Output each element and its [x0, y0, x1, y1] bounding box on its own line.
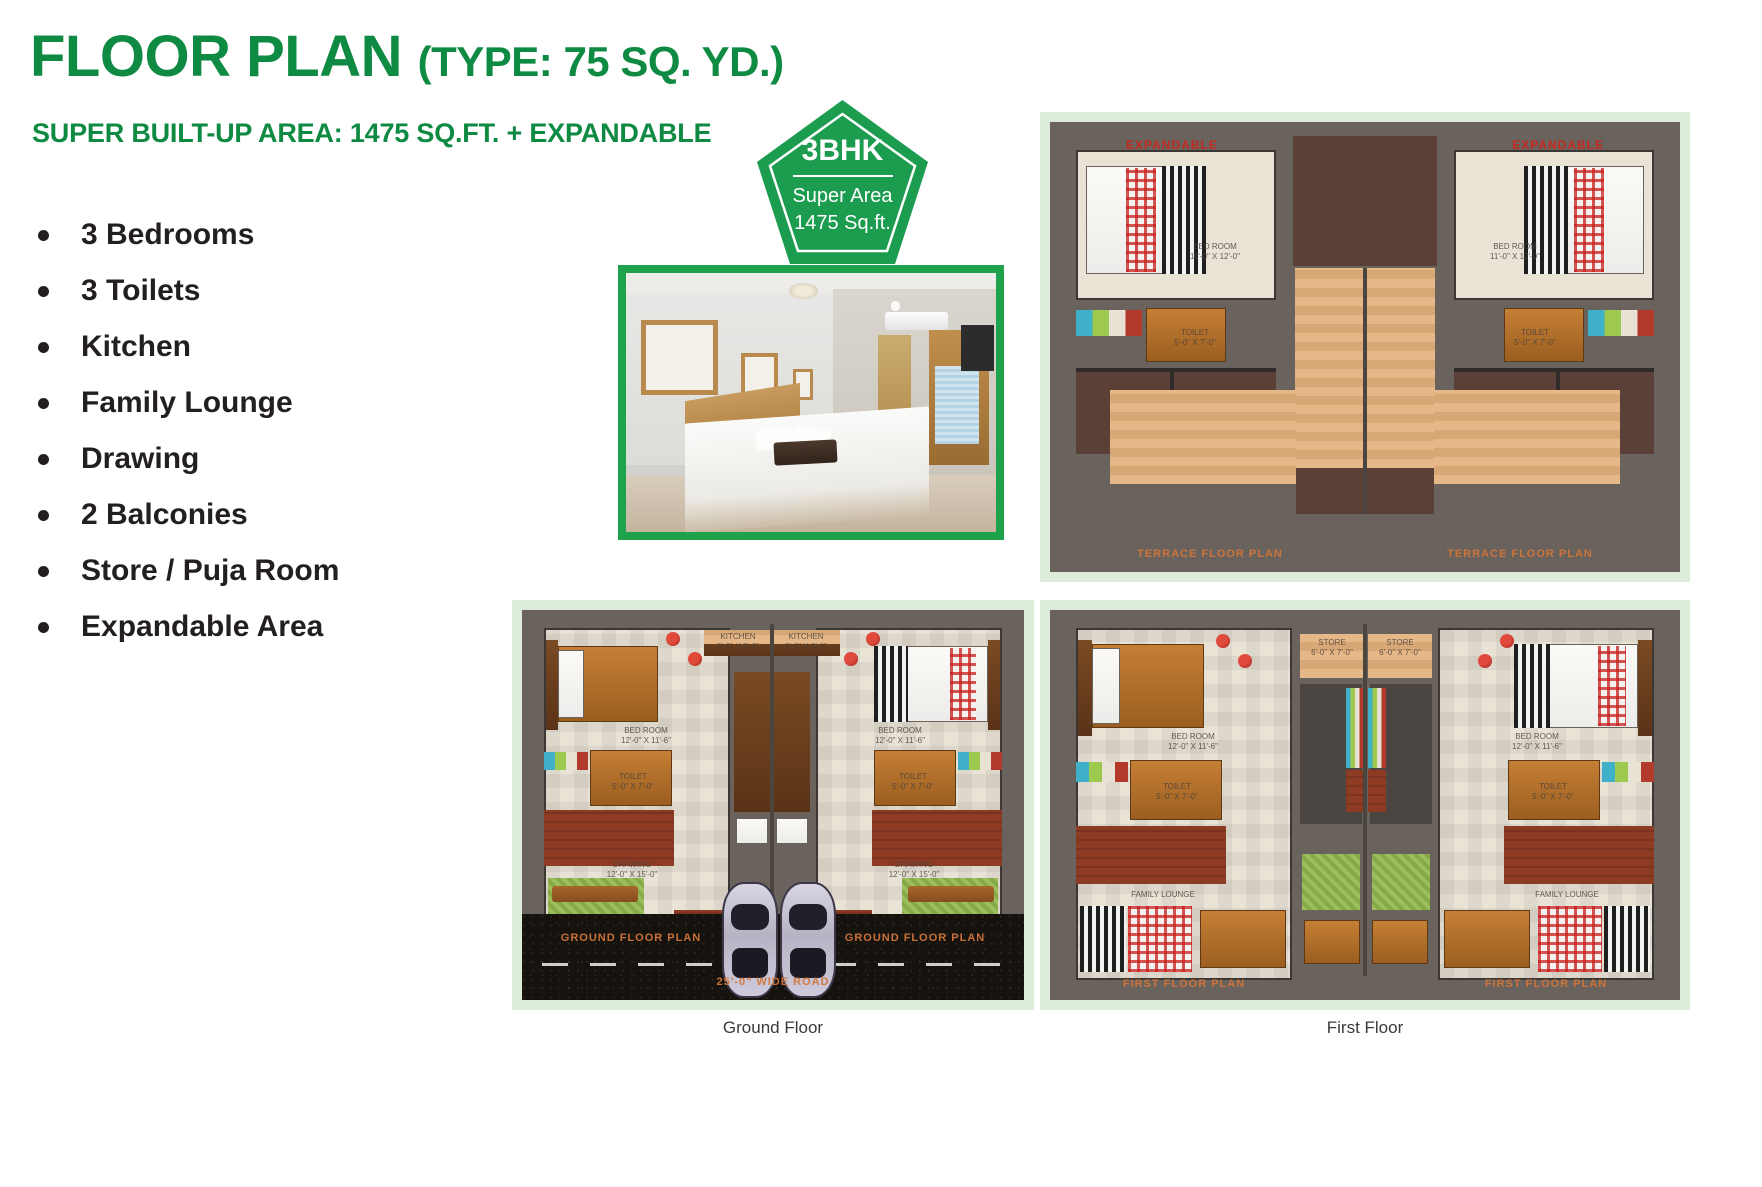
bullet-icon — [38, 454, 49, 465]
wardrobe-right — [1588, 310, 1654, 336]
terrace-tiles-far-left — [1110, 390, 1296, 484]
features-list: 3 Bedrooms 3 Toilets Kitchen Family Loun… — [28, 216, 498, 664]
landing-right — [776, 818, 808, 844]
bed — [685, 407, 929, 532]
center-divider — [1363, 624, 1367, 976]
bed-stripe-right-lower — [1604, 906, 1650, 972]
room-tag-lounge-left: FAMILY LOUNGE — [1108, 890, 1218, 900]
room-tag-bedroom-left: BED ROOM12'-0" X 11'-6" — [1146, 732, 1240, 752]
terrace-tiles-right — [1367, 268, 1435, 468]
list-item: Store / Puja Room — [28, 552, 498, 590]
first-floor-plan-panel: BED ROOM12'-0" X 11'-6" TOILET5'-0" X 7'… — [1040, 600, 1690, 1010]
title-type: (TYPE: 75 SQ. YD.) — [418, 38, 784, 85]
plant-icon — [1478, 654, 1492, 668]
bhk-badge: 3BHK Super Area 1475 Sq.ft. — [755, 98, 930, 273]
drawing-wall-left — [544, 810, 674, 866]
bedroom-render — [626, 273, 996, 532]
furniture-right-lower — [1444, 910, 1530, 968]
room-tag-toilet-right: TOILET5'-0" X 7'-0" — [1518, 782, 1588, 802]
list-item: Expandable Area — [28, 608, 498, 646]
room-tag-drawing-left: DRAWING12'-0" X 15'-0" — [582, 860, 682, 880]
sofa-left — [552, 886, 638, 902]
terrace-tiles-far-right — [1434, 390, 1620, 484]
page-subtitle: SUPER BUILT-UP AREA: 1475 SQ.FT. + EXPAN… — [32, 118, 711, 149]
first-plan-label-left: FIRST FLOOR PLAN — [1076, 978, 1292, 990]
stair-block-right — [774, 672, 810, 812]
wardrobe-right — [958, 752, 1002, 770]
bed-cover-right — [950, 648, 976, 720]
wardrobe-center-left — [1346, 688, 1364, 768]
ground-floor-caption: Ground Floor — [512, 1018, 1034, 1038]
lounge-wall-right — [1504, 826, 1654, 884]
road-label: 25'-0" WIDE ROAD — [522, 976, 1024, 988]
plant-icon — [844, 652, 858, 666]
ceiling-light-icon — [789, 283, 819, 299]
first-plan-drawing: BED ROOM12'-0" X 11'-6" TOILET5'-0" X 7'… — [1050, 610, 1680, 1000]
list-item: Family Lounge — [28, 384, 498, 422]
room-tag-toilet-left: TOILET5'-0" X 7'-0" — [600, 772, 666, 792]
title-main: FLOOR PLAN — [30, 24, 402, 89]
wardrobe-left — [544, 752, 588, 770]
room-tag-toilet-right: TOILET5'-0" X 7'-0" — [880, 772, 946, 792]
terrace-plan-label-left: TERRACE FLOOR PLAN — [1110, 548, 1310, 560]
terrace-floor-plan-panel: EXPANDABLE BED ROOM11'-0" X 12'-0" TOILE… — [1040, 112, 1690, 582]
stair-block-left — [734, 672, 770, 812]
feature-label: Family Lounge — [81, 384, 293, 422]
room-tag-bedroom-right: BED ROOM12'-0" X 11'-6" — [1490, 732, 1584, 752]
feature-label: 3 Toilets — [81, 272, 200, 310]
wall-panel-left — [546, 640, 558, 730]
wall-art-large — [641, 320, 719, 395]
center-divider — [770, 624, 774, 924]
room-tag-bedroom-right: BED ROOM11'-0" X 12'-0" — [1470, 242, 1560, 262]
plant-icon — [866, 632, 880, 646]
sofa-right — [908, 886, 994, 902]
first-plan-label-right: FIRST FLOOR PLAN — [1438, 978, 1654, 990]
bed-cover-right — [1574, 168, 1604, 272]
expandable-label-right: EXPANDABLE — [1512, 138, 1604, 152]
lounge-garden-right — [1372, 854, 1430, 910]
wall-segment — [1076, 368, 1276, 372]
lounge-garden-left — [1302, 854, 1360, 910]
tv-panel — [961, 325, 994, 372]
bullet-icon — [38, 398, 49, 409]
wall-panel-right — [1638, 640, 1652, 736]
bed-cover-right — [1598, 646, 1626, 726]
lounge-furniture-left — [1304, 920, 1360, 964]
wardrobe-center-right — [1368, 688, 1386, 768]
ground-floor-plan-panel: BED ROOM12'-0" X 11'-6" TOILET5'-0" X 7'… — [512, 600, 1034, 1010]
feature-label: Drawing — [81, 440, 199, 478]
bed-sheet-left — [558, 650, 584, 718]
wardrobe-left — [1076, 310, 1142, 336]
list-item: 3 Bedrooms — [28, 216, 498, 254]
room-tag-lounge-right: FAMILY LOUNGE — [1512, 890, 1622, 900]
bullet-icon — [38, 230, 49, 241]
stair-center-left — [1346, 770, 1364, 812]
wall-panel-left — [1078, 640, 1092, 736]
wall-segment — [1454, 368, 1654, 372]
room-tag-toilet-left: TOILET5'-0" X 7'-0" — [1142, 782, 1212, 802]
room-tag-bedroom-left: BED ROOM11'-0" X 12'-0" — [1170, 242, 1260, 262]
spot-light-icon — [891, 301, 900, 310]
plant-icon — [1238, 654, 1252, 668]
center-divider — [1363, 268, 1367, 514]
list-item: 3 Toilets — [28, 272, 498, 310]
plant-icon — [688, 652, 702, 666]
window-blinds — [935, 366, 979, 444]
feature-label: Kitchen — [81, 328, 191, 366]
list-item: Drawing — [28, 440, 498, 478]
room-tag-kitchen-left: KITCHEN8'-0" X 9'-6" — [708, 632, 768, 652]
bullet-icon — [38, 510, 49, 521]
bed-stripe-right — [874, 646, 908, 722]
wall-panel-right — [988, 640, 1000, 730]
pentagon-badge-icon — [755, 98, 930, 273]
wardrobe-right — [1602, 762, 1654, 782]
room-tag-store-left: STORE6'-0" X 7'-0" — [1302, 638, 1362, 658]
furniture-left-lower — [1200, 910, 1286, 968]
bed-cover-left-lower — [1128, 906, 1192, 972]
ground-plan-drawing: BED ROOM12'-0" X 11'-6" TOILET5'-0" X 7'… — [522, 610, 1024, 1000]
drawing-wall-right — [872, 810, 1002, 866]
bullet-icon — [38, 622, 49, 633]
bed-stripe-left-lower — [1080, 906, 1126, 972]
first-floor-caption: First Floor — [1040, 1018, 1690, 1038]
ground-plan-label-left: GROUND FLOOR PLAN — [546, 932, 716, 944]
air-conditioner-icon — [885, 312, 948, 330]
room-tag-bedroom-right: BED ROOM12'-0" X 11'-6" — [854, 726, 946, 746]
bedroom-photo — [618, 265, 1004, 540]
room-tag-toilet-left: TOILET5'-0" X 7'-0" — [1160, 328, 1230, 348]
lounge-furniture-right — [1372, 920, 1428, 964]
feature-label: Store / Puja Room — [81, 552, 339, 590]
bed-stripe-right — [1514, 644, 1550, 728]
feature-label: Expandable Area — [81, 608, 323, 646]
bed-cover-left — [1126, 168, 1156, 272]
feature-label: 3 Bedrooms — [81, 216, 254, 254]
bed-sheet-left — [1092, 648, 1120, 724]
bullet-icon — [38, 342, 49, 353]
floor-plan-page: FLOOR PLAN (TYPE: 75 SQ. YD.) SUPER BUIL… — [0, 0, 1762, 1187]
lounge-wall-left — [1076, 826, 1226, 884]
plant-icon — [1216, 634, 1230, 648]
bullet-icon — [38, 286, 49, 297]
terrace-open-top — [1293, 136, 1437, 266]
room-tag-store-right: STORE6'-0" X 7'-0" — [1370, 638, 1430, 658]
bullet-icon — [38, 566, 49, 577]
list-item: 2 Balconies — [28, 496, 498, 534]
ground-plan-label-right: GROUND FLOOR PLAN — [830, 932, 1000, 944]
plant-icon — [1500, 634, 1514, 648]
wardrobe-left — [1076, 762, 1128, 782]
bed-throw — [773, 440, 837, 467]
list-item: Kitchen — [28, 328, 498, 366]
room-tag-bedroom-left: BED ROOM12'-0" X 11'-6" — [600, 726, 692, 746]
page-title: FLOOR PLAN (TYPE: 75 SQ. YD.) — [30, 28, 784, 86]
terrace-plan-label-right: TERRACE FLOOR PLAN — [1420, 548, 1620, 560]
terrace-plan-drawing: EXPANDABLE BED ROOM11'-0" X 12'-0" TOILE… — [1050, 122, 1680, 572]
room-tag-toilet-right: TOILET5'-0" X 7'-0" — [1500, 328, 1570, 348]
landing-left — [736, 818, 768, 844]
feature-label: 2 Balconies — [81, 496, 248, 534]
bed-cover-right-lower — [1538, 906, 1602, 972]
terrace-tiles-left — [1295, 268, 1363, 468]
expandable-label-left: EXPANDABLE — [1126, 138, 1218, 152]
room-tag-kitchen-right: KITCHEN8'-0" X 9'-6" — [776, 632, 836, 652]
room-tag-drawing-right: DRAWING12'-0" X 15'-0" — [864, 860, 964, 880]
stair-center-right — [1368, 770, 1386, 812]
plant-icon — [666, 632, 680, 646]
